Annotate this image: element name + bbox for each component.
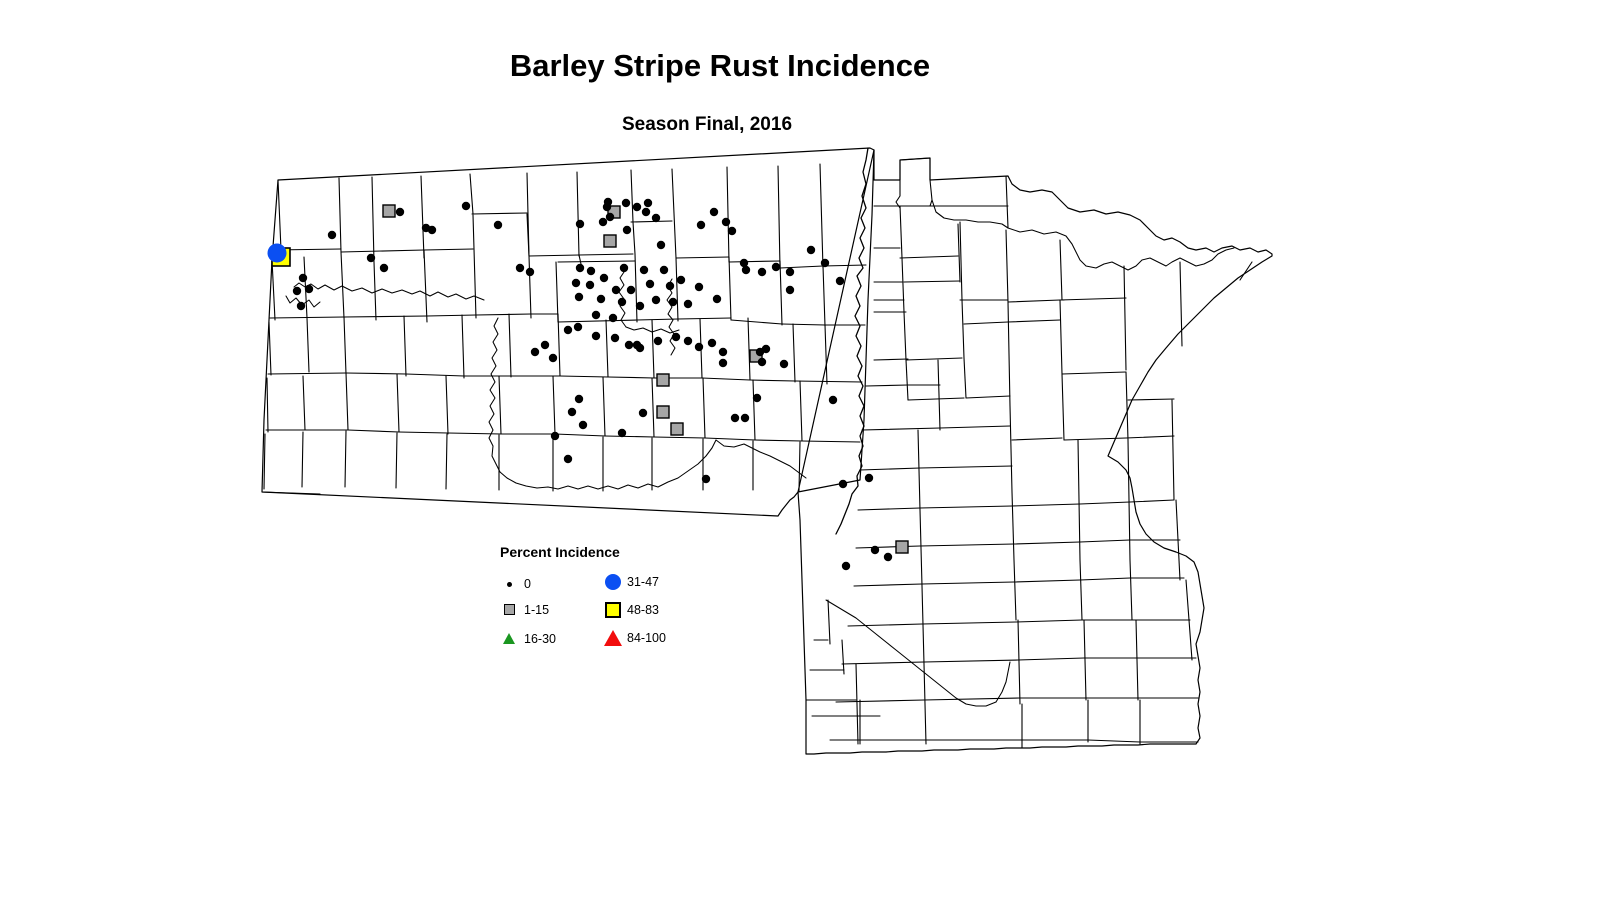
legend-item-48-83[interactable]: 48-83	[603, 600, 659, 620]
map-point-0[interactable]	[646, 280, 654, 288]
map-point-0[interactable]	[695, 343, 703, 351]
legend-title: Percent Incidence	[500, 544, 620, 560]
map-point-0[interactable]	[821, 259, 829, 267]
map-point-0[interactable]	[609, 314, 617, 322]
map-point-0[interactable]	[652, 214, 660, 222]
map-point-0[interactable]	[576, 264, 584, 272]
map-point-0[interactable]	[836, 277, 844, 285]
minnesota-river	[826, 600, 996, 706]
map-point-0[interactable]	[684, 337, 692, 345]
map-point-0[interactable]	[786, 286, 794, 294]
map-point-0[interactable]	[741, 414, 749, 422]
map-point-0[interactable]	[657, 241, 665, 249]
map-point-0[interactable]	[428, 226, 436, 234]
map-point-0[interactable]	[633, 203, 641, 211]
map-point-0[interactable]	[719, 348, 727, 356]
map-point-0[interactable]	[531, 348, 539, 356]
map-point-0[interactable]	[297, 302, 305, 310]
map-point-0[interactable]	[396, 208, 404, 216]
map-point-0[interactable]	[666, 282, 674, 290]
map-point-1-15[interactable]	[671, 423, 683, 435]
map-point-0[interactable]	[660, 266, 668, 274]
legend-item-84-100[interactable]: 84-100	[603, 628, 666, 648]
map-point-0[interactable]	[575, 395, 583, 403]
missouri-river-lake-sakakawea	[294, 283, 484, 300]
map-point-1-15[interactable]	[896, 541, 908, 553]
legend-item-31-47[interactable]: 31-47	[603, 572, 659, 592]
map-point-0[interactable]	[708, 339, 716, 347]
map-point-0[interactable]	[839, 480, 847, 488]
map-point-0[interactable]	[516, 264, 524, 272]
map-point-0[interactable]	[636, 302, 644, 310]
map-point-0[interactable]	[652, 296, 660, 304]
map-point-1-15[interactable]	[383, 205, 395, 217]
map-point-0[interactable]	[697, 221, 705, 229]
legend-label-31-47: 31-47	[627, 575, 659, 589]
map-point-0[interactable]	[677, 276, 685, 284]
figure-canvas: Barley Stripe Rust Incidence Season Fina…	[0, 0, 1612, 900]
map-point-0[interactable]	[640, 266, 648, 274]
map-point-0[interactable]	[625, 341, 633, 349]
map-point-0[interactable]	[842, 562, 850, 570]
map-point-0[interactable]	[587, 267, 595, 275]
legend-item-0[interactable]: 0	[500, 574, 531, 594]
map-point-0[interactable]	[702, 475, 710, 483]
map-point-0[interactable]	[612, 286, 620, 294]
map-point-0[interactable]	[742, 266, 750, 274]
map-point-0[interactable]	[758, 358, 766, 366]
map-point-0[interactable]	[494, 221, 502, 229]
legend-label-84-100: 84-100	[627, 631, 666, 645]
map-point-0[interactable]	[526, 268, 534, 276]
legend-symbol-gray-square	[500, 600, 522, 620]
map-point-0[interactable]	[669, 298, 677, 306]
map-point-0[interactable]	[579, 421, 587, 429]
legend-label-48-83: 48-83	[627, 603, 659, 617]
map-point-0[interactable]	[636, 344, 644, 352]
map-point-1-15[interactable]	[604, 235, 616, 247]
map-point-0[interactable]	[627, 286, 635, 294]
map-point-0[interactable]	[564, 455, 572, 463]
map-point-0[interactable]	[328, 231, 336, 239]
map-point-0[interactable]	[829, 396, 837, 404]
red-river-border	[836, 148, 868, 534]
data-point-layer[interactable]	[268, 198, 909, 570]
map-point-0[interactable]	[564, 326, 572, 334]
map-point-0[interactable]	[722, 218, 730, 226]
map-point-0[interactable]	[710, 208, 718, 216]
map-point-0[interactable]	[642, 208, 650, 216]
northwest-angle	[874, 158, 930, 180]
map-point-0[interactable]	[695, 283, 703, 291]
legend-symbol-red-triangle	[603, 628, 625, 648]
map-point-0[interactable]	[592, 332, 600, 340]
map-point-0[interactable]	[639, 409, 647, 417]
map-point-0[interactable]	[753, 394, 761, 402]
legend-label-16-30: 16-30	[524, 632, 556, 646]
legend-symbol-small-black-dot	[500, 574, 522, 594]
map-canvas[interactable]	[0, 0, 1612, 900]
map-point-0[interactable]	[592, 311, 600, 319]
map-point-0[interactable]	[871, 546, 879, 554]
map-point-0[interactable]	[611, 334, 619, 342]
map-point-0[interactable]	[758, 268, 766, 276]
legend-item-16-30[interactable]: 16-30	[500, 629, 556, 649]
map-point-0[interactable]	[644, 199, 652, 207]
legend-symbol-green-triangle	[500, 629, 522, 649]
map-point-1-15[interactable]	[657, 374, 669, 386]
map-point-0[interactable]	[719, 359, 727, 367]
james-river	[667, 279, 675, 355]
map-point-0[interactable]	[600, 274, 608, 282]
map-point-0[interactable]	[884, 553, 892, 561]
map-point-0[interactable]	[549, 354, 557, 362]
map-point-0[interactable]	[728, 227, 736, 235]
legend: Percent Incidence 0 1-15 16-30 31-47 48-…	[500, 544, 730, 664]
map-point-0[interactable]	[586, 281, 594, 289]
map-point-0[interactable]	[576, 220, 584, 228]
map-point-0[interactable]	[575, 293, 583, 301]
legend-symbol-blue-circle	[603, 572, 625, 592]
legend-label-0: 0	[524, 577, 531, 591]
choropleth-map-svg	[0, 0, 1612, 900]
map-point-0[interactable]	[293, 287, 301, 295]
map-point-0[interactable]	[807, 246, 815, 254]
map-point-0[interactable]	[772, 263, 780, 271]
map-point-0[interactable]	[568, 408, 576, 416]
map-point-31-47[interactable]	[268, 244, 287, 263]
map-point-0[interactable]	[786, 268, 794, 276]
map-point-0[interactable]	[541, 341, 549, 349]
map-point-0[interactable]	[672, 333, 680, 341]
map-point-0[interactable]	[731, 414, 739, 422]
legend-symbol-yellow-square	[603, 600, 625, 620]
map-point-0[interactable]	[462, 202, 470, 210]
map-point-0[interactable]	[599, 218, 607, 226]
legend-label-1-15: 1-15	[524, 603, 549, 617]
map-point-0[interactable]	[684, 300, 692, 308]
map-point-0[interactable]	[305, 285, 313, 293]
map-point-1-15[interactable]	[657, 406, 669, 418]
map-point-0[interactable]	[654, 337, 662, 345]
map-point-0[interactable]	[572, 279, 580, 287]
map-point-0[interactable]	[574, 323, 582, 331]
map-point-0[interactable]	[618, 429, 626, 437]
map-point-0[interactable]	[367, 254, 375, 262]
map-point-0[interactable]	[618, 298, 626, 306]
map-point-0[interactable]	[597, 295, 605, 303]
map-point-0[interactable]	[780, 360, 788, 368]
map-point-0[interactable]	[762, 345, 770, 353]
map-point-0[interactable]	[620, 264, 628, 272]
map-point-0[interactable]	[606, 213, 614, 221]
map-point-0[interactable]	[713, 295, 721, 303]
map-point-0[interactable]	[603, 203, 611, 211]
map-point-0[interactable]	[551, 432, 559, 440]
map-point-0[interactable]	[622, 199, 630, 207]
map-point-0[interactable]	[299, 274, 307, 282]
legend-item-1-15[interactable]: 1-15	[500, 600, 549, 620]
map-point-0[interactable]	[865, 474, 873, 482]
map-point-0[interactable]	[623, 226, 631, 234]
map-point-0[interactable]	[380, 264, 388, 272]
county-boundaries	[262, 148, 1272, 754]
